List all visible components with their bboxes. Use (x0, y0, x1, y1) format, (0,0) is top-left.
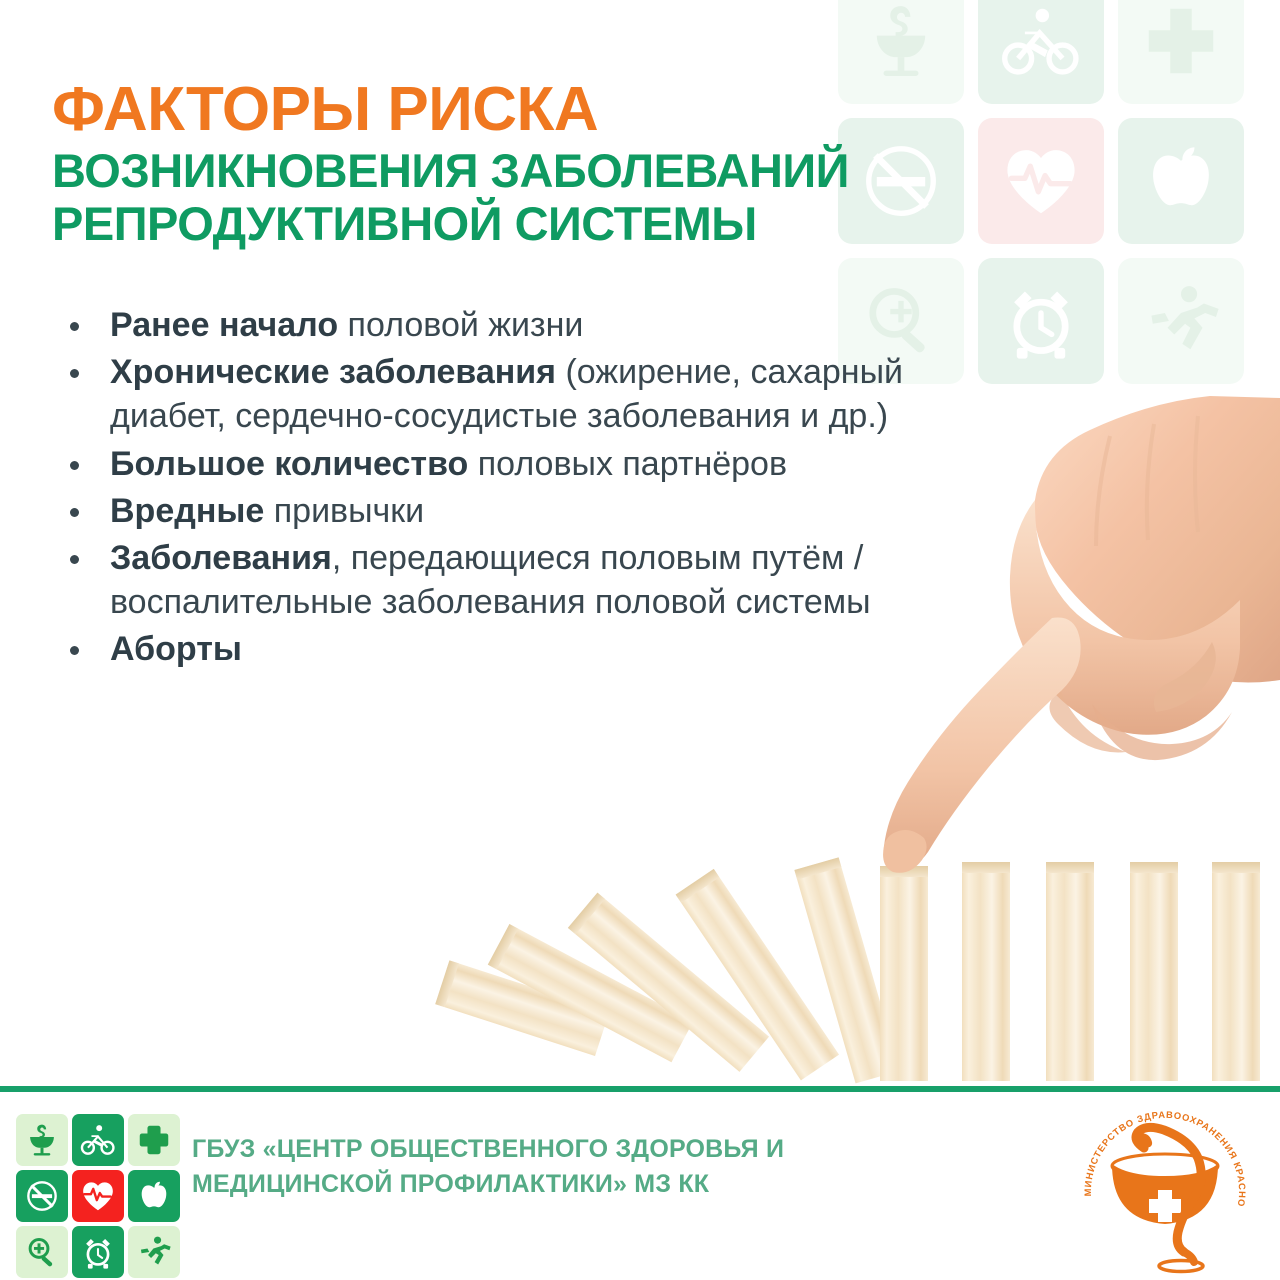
list-item: Хронические заболевания (ожирение, сахар… (58, 350, 958, 438)
running-person-icon (128, 1226, 180, 1278)
standing-dominoes (880, 862, 1260, 1081)
footer-icon-grid (16, 1114, 180, 1278)
bullet-dot-icon (70, 369, 79, 378)
medical-cross-icon (128, 1114, 180, 1166)
title-green-line1: ВОЗНИКНОВЕНИЯ ЗАБОЛЕВАНИЙ (52, 145, 1172, 198)
list-item-bold: Хронические заболевания (110, 353, 556, 391)
cyclist-icon (72, 1114, 124, 1166)
organization-name-line1: ГБУЗ «ЦЕНТР ОБЩЕСТВЕННОГО ЗДОРОВЬЯ И (192, 1132, 912, 1167)
heart-ecg-icon (72, 1170, 124, 1222)
list-item: Заболевания, передающиеся половым путём … (58, 536, 958, 624)
list-item: Аборты (58, 627, 958, 671)
falling-dominoes (435, 857, 900, 1083)
bullet-dot-icon (70, 508, 79, 517)
list-item-rest: половой жизни (338, 306, 583, 344)
magnifier-plus-icon (16, 1226, 68, 1278)
organization-name: ГБУЗ «ЦЕНТР ОБЩЕСТВЕННОГО ЗДОРОВЬЯ И МЕД… (192, 1132, 912, 1202)
bullet-dot-icon (70, 461, 79, 470)
list-item-bold: Заболевания (110, 539, 332, 577)
alarm-clock-icon (72, 1226, 124, 1278)
list-item: Вредные привычки (58, 489, 958, 533)
list-item-bold: Большое количество (110, 445, 468, 483)
list-item: Большое количество половых партнёров (58, 442, 958, 486)
bowl-of-hygieia-logo-symbol (1112, 1127, 1218, 1271)
risk-factor-list: Ранее начало половой жизни Хронические з… (58, 303, 958, 675)
poster-headline: ФАКТОРЫ РИСКА ВОЗНИКНОВЕНИЯ ЗАБОЛЕВАНИЙ … (52, 78, 1172, 250)
watermark-tile-alarm-clock (978, 258, 1104, 384)
organization-name-line2: МЕДИЦИНСКОЙ ПРОФИЛАКТИКИ» МЗ КК (192, 1167, 912, 1202)
apple-icon (128, 1170, 180, 1222)
bullet-dot-icon (70, 322, 79, 331)
list-item-rest: половых партнёров (468, 445, 787, 483)
title-orange: ФАКТОРЫ РИСКА (52, 78, 1172, 141)
list-item-bold: Вредные (110, 492, 264, 530)
list-item-bold: Аборты (110, 630, 242, 668)
list-item: Ранее начало половой жизни (58, 303, 958, 347)
list-item-rest: привычки (264, 492, 424, 530)
list-item-bold: Ранее начало (110, 306, 338, 344)
ministry-logo: МИНИСТЕРСТВО ЗДРАВООХРАНЕНИЯ КРАСНОДАРСК… (1072, 1100, 1258, 1276)
no-smoking-icon (16, 1170, 68, 1222)
title-green: ВОЗНИКНОВЕНИЯ ЗАБОЛЕВАНИЙ РЕПРОДУКТИВНОЙ… (52, 145, 1172, 250)
title-green-line2: РЕПРОДУКТИВНОЙ СИСТЕМЫ (52, 198, 1172, 251)
bullet-dot-icon (70, 646, 79, 655)
watermark-tile-running-person (1118, 258, 1244, 384)
bullet-dot-icon (70, 555, 79, 564)
poster-canvas: ФАКТОРЫ РИСКА ВОЗНИКНОВЕНИЯ ЗАБОЛЕВАНИЙ … (0, 0, 1280, 1280)
ministry-logo-svg: МИНИСТЕРСТВО ЗДРАВООХРАНЕНИЯ КРАСНОДАРСК… (1072, 1100, 1258, 1276)
bowl-of-hygieia-icon (16, 1114, 68, 1166)
